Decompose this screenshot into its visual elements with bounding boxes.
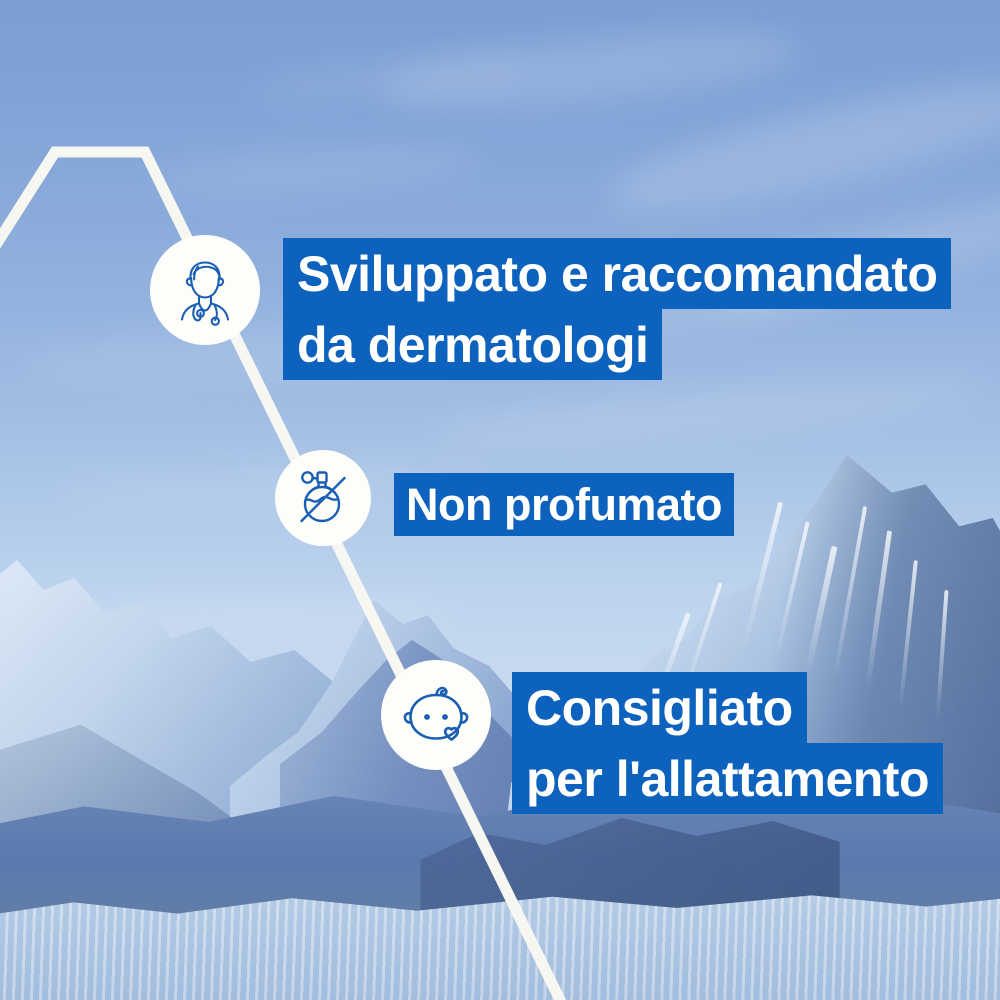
- benefit-banner-line: per l'allattamento: [512, 743, 943, 814]
- benefit-banner-line: Non profumato: [394, 473, 734, 536]
- benefit-banner-breastfeeding: Consigliato per l'allattamento: [512, 672, 943, 814]
- benefit-banner-dermatologists: Sviluppato e raccomandato da dermatologi: [283, 238, 951, 380]
- benefit-banner-fragrance-free: Non profumato: [394, 473, 734, 536]
- benefit-icon-circle-fragrance-free[interactable]: [275, 450, 371, 546]
- doctor-icon: [168, 253, 242, 327]
- infographic-canvas: Sviluppato e raccomandato da dermatologi…: [0, 0, 1000, 1000]
- benefit-banner-line: Consigliato: [512, 672, 807, 743]
- no-fragrance-icon: [290, 465, 356, 531]
- benefit-icon-circle-dermatologists[interactable]: [150, 235, 260, 345]
- benefit-icon-circle-breastfeeding[interactable]: [381, 660, 491, 770]
- baby-icon: [396, 675, 476, 755]
- benefit-banner-line: da dermatologi: [283, 309, 662, 380]
- benefit-banner-line: Sviluppato e raccomandato: [283, 238, 951, 309]
